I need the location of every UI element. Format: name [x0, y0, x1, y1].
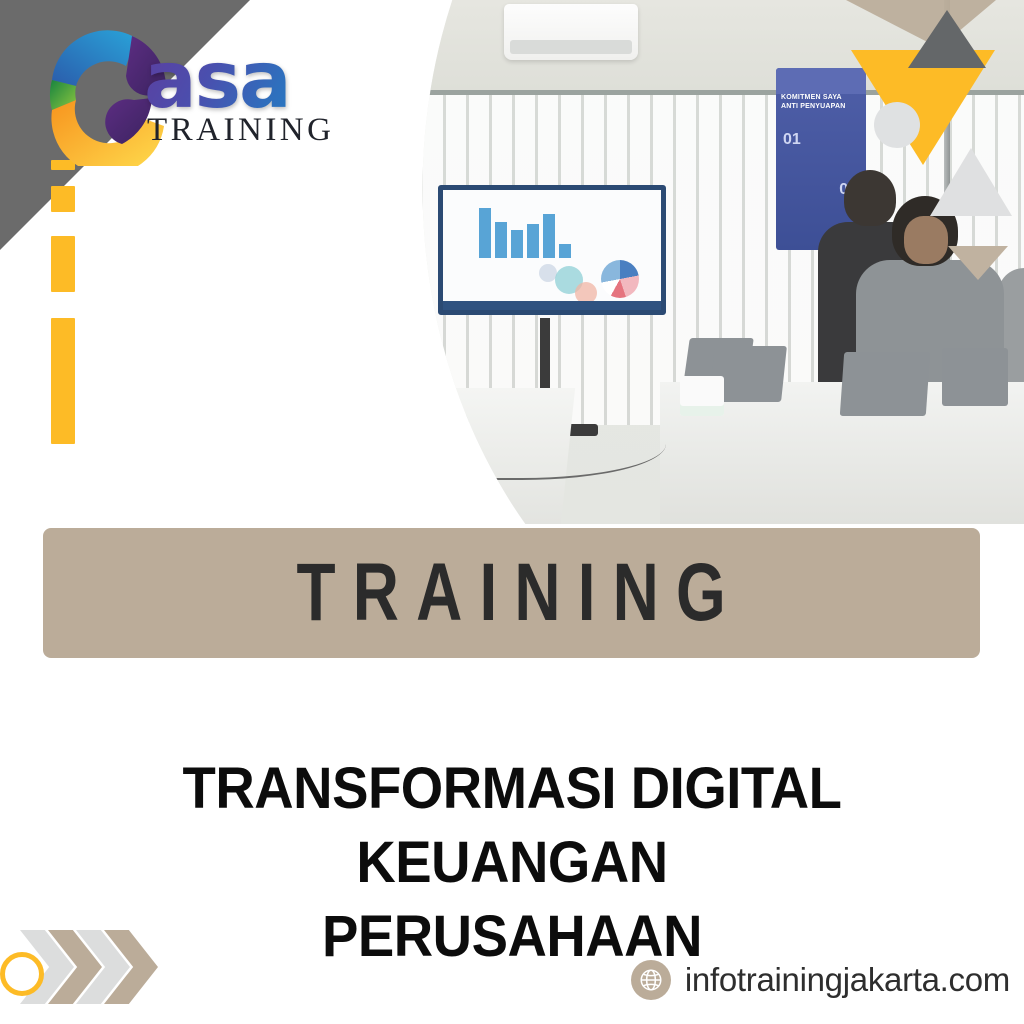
presenter-lanyard	[364, 236, 390, 280]
tissue-box-right	[680, 376, 724, 416]
photo-cable	[426, 420, 666, 480]
light-circle-decor	[874, 102, 920, 148]
dash-2	[51, 186, 75, 212]
yellow-ring-decor	[0, 952, 44, 996]
presentation-screen	[438, 185, 666, 315]
footer-website[interactable]: infotrainingjakarta.com	[631, 960, 1010, 1000]
training-flyer-poster: KOMITMEN SAYA ANTI PENYUAPAN 01 02	[0, 0, 1024, 1024]
dash-3	[51, 236, 75, 292]
air-conditioner-icon	[504, 4, 638, 60]
laptop-4	[942, 348, 1008, 406]
rollup-banner-line2: ANTI PENYUAPAN	[781, 103, 861, 112]
training-banner: TRAINING	[43, 528, 980, 658]
screen-pie-chart	[601, 260, 639, 298]
rollup-banner-line1: KOMITMEN SAYA	[781, 94, 861, 103]
presenter-body	[330, 232, 424, 392]
presenter-head	[356, 190, 400, 240]
training-banner-label: TRAINING	[280, 546, 744, 640]
tissue-box-left	[406, 384, 448, 416]
rollup-banner-item-01: 01	[783, 130, 801, 150]
participant-2-head	[844, 170, 896, 226]
dash-4	[51, 318, 75, 444]
yellow-dash-stack	[51, 160, 75, 444]
logo-name-text: asa	[144, 46, 334, 116]
laptop-3	[840, 352, 930, 416]
rollup-banner-header	[776, 68, 866, 94]
chevron-arrow-group	[20, 930, 200, 1004]
asa-logo-wordmark: asa TRAINING	[144, 46, 334, 149]
screen-bar-chart	[479, 206, 571, 258]
title-line-1: TRANSFORMASI DIGITAL KEUANGAN	[44, 752, 980, 900]
screen-taskbar	[443, 301, 661, 310]
participant-3-face	[904, 216, 948, 264]
globe-icon	[631, 960, 671, 1000]
footer-url-text[interactable]: infotrainingjakarta.com	[685, 961, 1010, 999]
